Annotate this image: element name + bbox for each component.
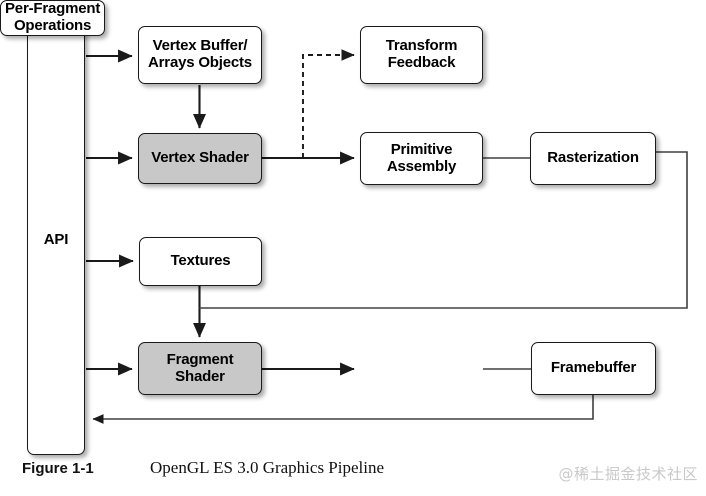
- node-primitive-assembly[interactable]: Primitive Assembly: [360, 132, 483, 185]
- pipeline-connectors: [0, 0, 706, 496]
- node-label: Framebuffer: [547, 360, 640, 377]
- node-label: Per-Fragment Operations: [1, 1, 104, 35]
- figure-title: OpenGL ES 3.0 Graphics Pipeline: [150, 458, 384, 478]
- figure-container: API Vertex Buffer/ Arrays Objects Transf…: [0, 0, 706, 496]
- connector-framebuffer-to-api: [93, 395, 593, 419]
- node-label: Primitive Assembly: [383, 142, 460, 176]
- node-api[interactable]: API: [27, 25, 85, 455]
- node-label: Rasterization: [543, 150, 643, 167]
- node-label: Vertex Buffer/ Arrays Objects: [144, 38, 256, 72]
- connector-vertex-shader-to-transform-feedback: [303, 55, 354, 158]
- figure-caption: Figure 1-1 OpenGL ES 3.0 Graphics Pipeli…: [22, 455, 542, 481]
- node-label: Vertex Shader: [147, 150, 252, 167]
- node-rasterization[interactable]: Rasterization: [530, 132, 656, 185]
- watermark-text: @稀土掘金技术社区: [558, 463, 698, 484]
- node-textures[interactable]: Textures: [139, 237, 262, 286]
- node-label: Textures: [167, 253, 235, 270]
- node-per-fragment-operations[interactable]: Per-Fragment Operations: [0, 0, 105, 36]
- figure-number: Figure 1-1: [22, 460, 150, 477]
- node-vertex-buffer[interactable]: Vertex Buffer/ Arrays Objects: [138, 26, 262, 84]
- node-label: Fragment Shader: [163, 352, 238, 386]
- node-vertex-shader[interactable]: Vertex Shader: [138, 133, 262, 184]
- node-transform-feedback[interactable]: Transform Feedback: [360, 26, 483, 84]
- node-fragment-shader[interactable]: Fragment Shader: [138, 342, 262, 395]
- node-framebuffer[interactable]: Framebuffer: [531, 342, 656, 395]
- node-label: API: [40, 232, 72, 249]
- node-label: Transform Feedback: [382, 38, 462, 72]
